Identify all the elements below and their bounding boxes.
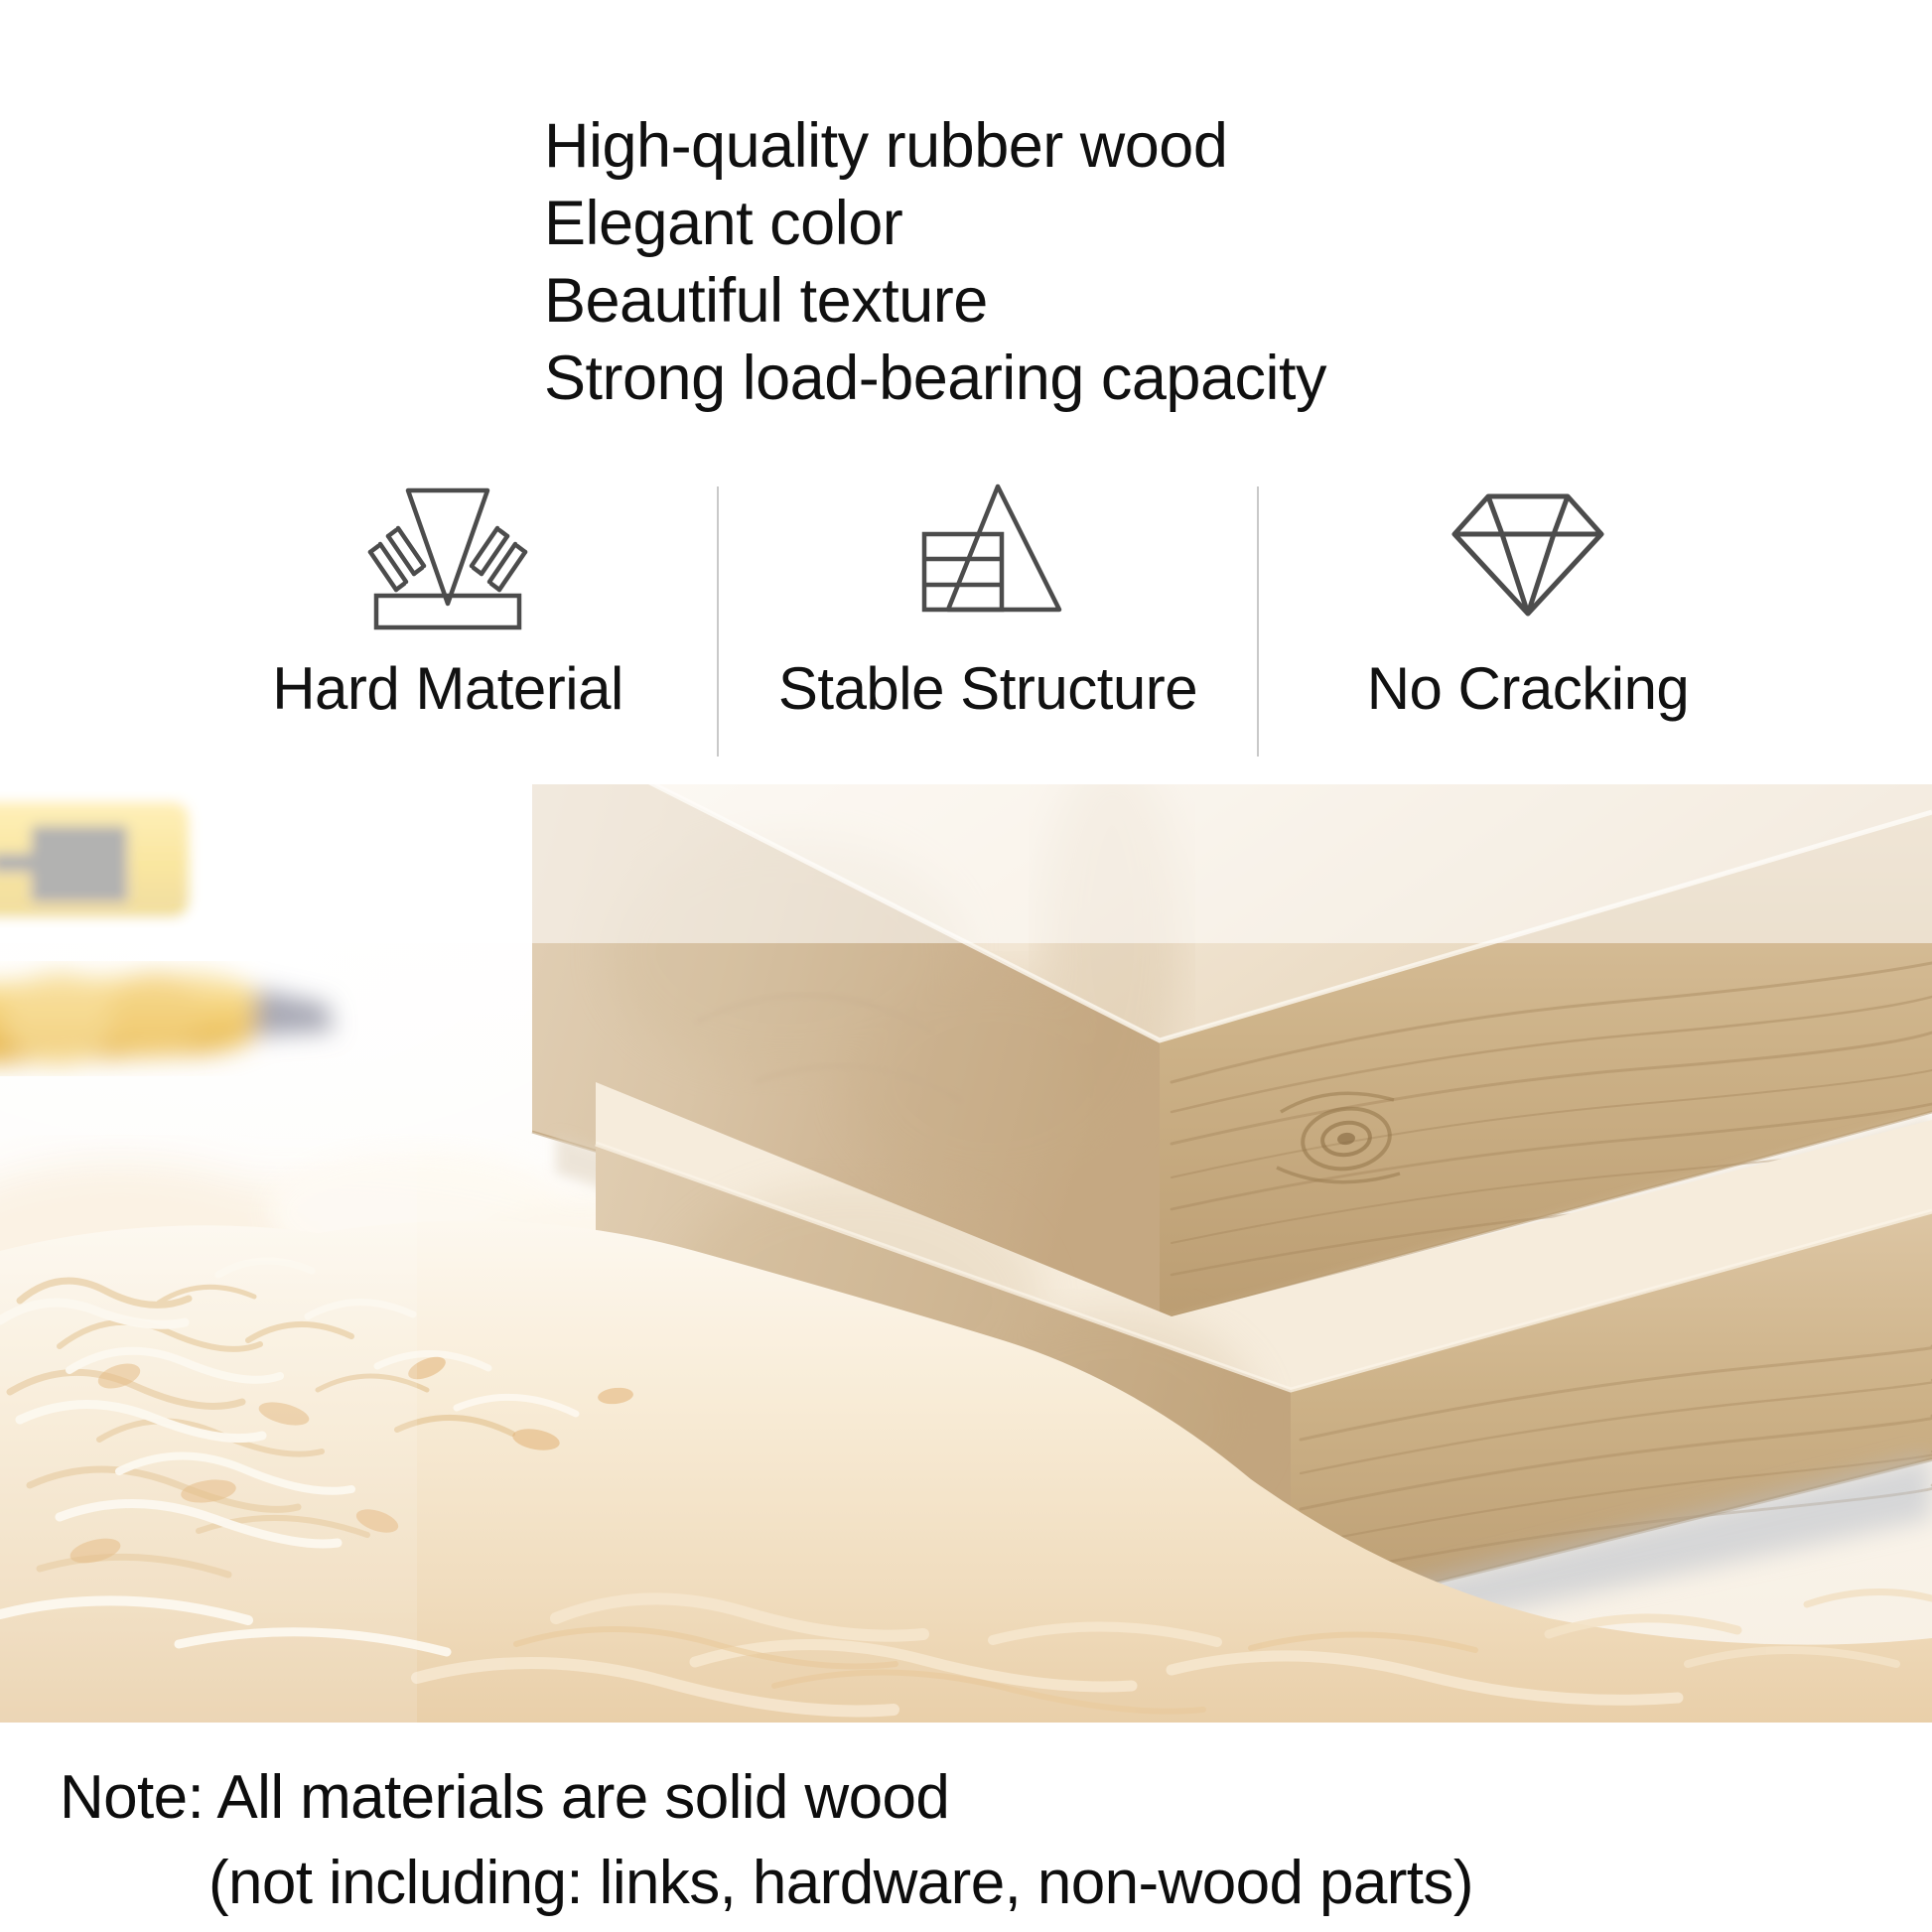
- feature-stable-structure: Stable Structure: [719, 467, 1257, 794]
- headline-line-1: High-quality rubber wood: [544, 107, 1835, 185]
- note-block: Note: All materials are solid wood (not …: [60, 1755, 1906, 1926]
- feature-no-cracking: No Cracking: [1259, 467, 1797, 794]
- headline-line-3: Beautiful texture: [544, 262, 1835, 340]
- headline-block: High-quality rubber wood Elegant color B…: [544, 107, 1835, 417]
- diamond-gem-icon: [1443, 467, 1613, 637]
- product-infographic: High-quality rubber wood Elegant color B…: [0, 0, 1932, 1932]
- feature-label: No Cracking: [1367, 653, 1690, 725]
- product-photo: [0, 784, 1932, 1723]
- headline-line-4: Strong load-bearing capacity: [544, 340, 1835, 417]
- chisel-impact-board-icon: [362, 467, 533, 637]
- feature-label: Stable Structure: [778, 653, 1197, 725]
- feature-label: Hard Material: [272, 653, 623, 725]
- triangle-stacked-layers-icon: [902, 467, 1073, 637]
- note-line-1: Note: All materials are solid wood: [60, 1755, 1906, 1841]
- headline-line-2: Elegant color: [544, 185, 1835, 262]
- note-line-2: (not including: links, hardware, non-woo…: [60, 1841, 1906, 1926]
- feature-hard-material: Hard Material: [179, 467, 717, 794]
- feature-row: Hard Material Stable Structure: [179, 467, 1797, 794]
